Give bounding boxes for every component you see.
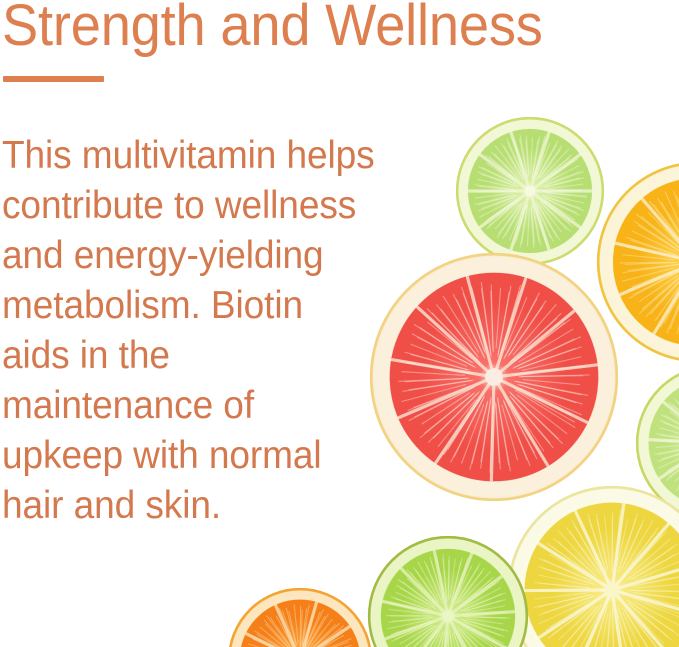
heading-underline-rule xyxy=(3,76,104,82)
body-paragraph: This multivitamin helpscontribute to wel… xyxy=(2,131,401,531)
page-title: Strength and Wellness xyxy=(2,0,543,57)
body-line: maintenance of xyxy=(2,381,401,431)
body-line: hair and skin. xyxy=(2,481,401,531)
body-line: and energy-yielding xyxy=(2,231,401,281)
lemon-slice-bottom-right-image xyxy=(508,486,679,647)
marketing-banner: Strength and Wellness This multivitamin … xyxy=(0,0,679,647)
grapefruit-slice-center-image xyxy=(370,253,618,501)
body-line: aids in the xyxy=(2,331,401,381)
body-line: This multivitamin helps xyxy=(2,131,401,181)
orange-slice-bottom-left-image xyxy=(228,588,372,647)
body-line: contribute to wellness xyxy=(2,181,401,231)
body-line: upkeep with normal xyxy=(2,431,401,481)
lime-slice-top-image xyxy=(456,117,604,265)
body-line: metabolism. Biotin xyxy=(2,281,401,331)
lime-slice-bottom-center-image xyxy=(368,536,528,647)
